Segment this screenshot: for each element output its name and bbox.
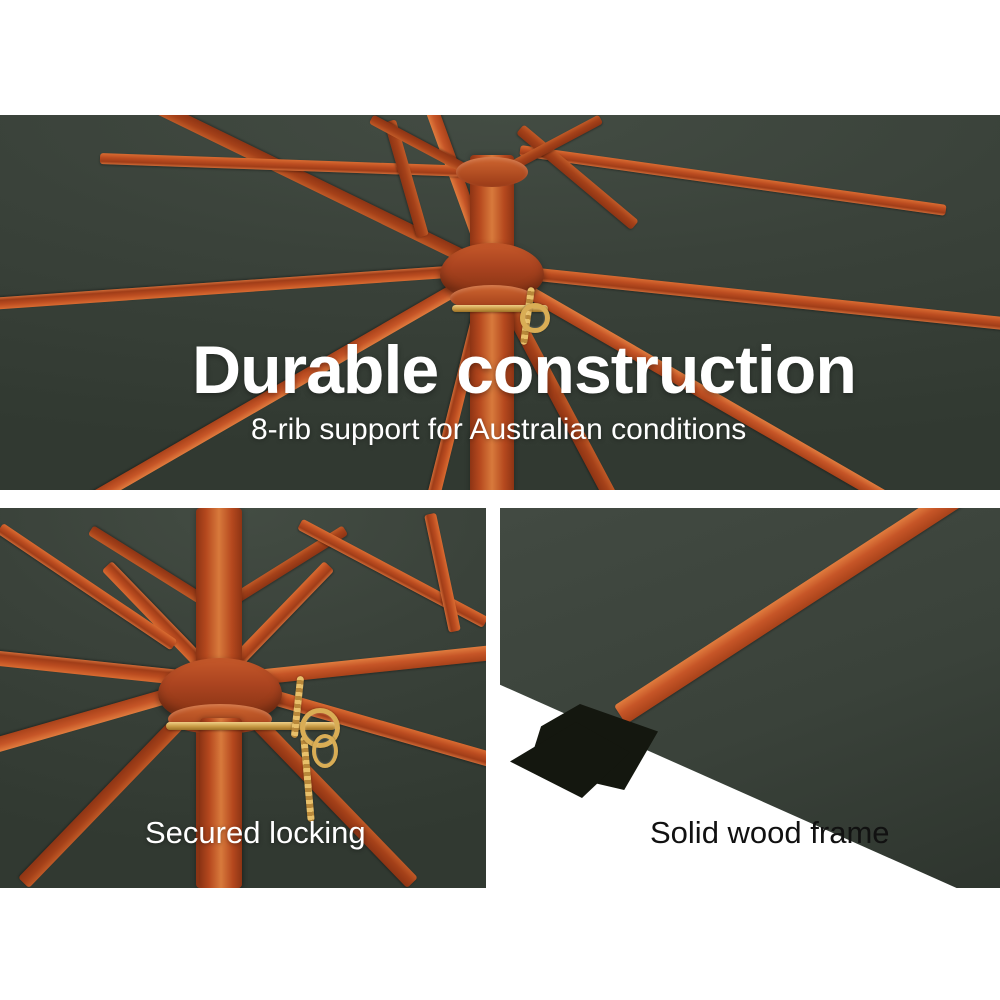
hero-image-panel: Durable construction 8-rib support for A… xyxy=(0,115,1000,490)
panel-caption: Solid wood frame xyxy=(650,815,890,851)
panel-secured-locking: Secured locking xyxy=(0,508,486,888)
lower-pole xyxy=(200,718,242,888)
panel-caption: Secured locking xyxy=(145,815,366,851)
product-feature-collage: Durable construction 8-rib support for A… xyxy=(0,0,1000,1000)
page-title: Durable construction xyxy=(192,336,856,404)
panel-solid-wood-frame: Solid wood frame xyxy=(500,508,1000,888)
upper-collar xyxy=(456,157,528,187)
page-subtitle: 8-rib support for Australian conditions xyxy=(251,415,746,445)
chain-ring xyxy=(312,734,338,768)
chain-ring xyxy=(520,303,550,333)
